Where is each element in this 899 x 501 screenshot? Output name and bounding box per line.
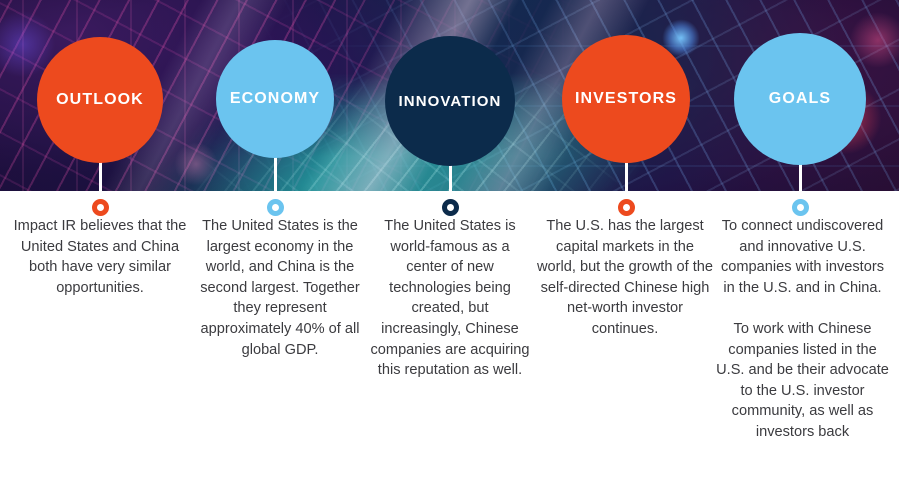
pin-dot-goals[interactable]	[792, 199, 809, 216]
caption-economy: The United States is the largest economy…	[190, 216, 370, 360]
pin-dot-innovation[interactable]	[442, 199, 459, 216]
node-label-investors: INVESTORS	[575, 91, 677, 107]
caption-columns: Impact IR believes that the United State…	[0, 216, 899, 501]
caption-outlook: Impact IR believes that the United State…	[10, 216, 190, 298]
node-circle-outlook[interactable]: OUTLOOK	[37, 37, 163, 163]
pin-dot-investors[interactable]	[618, 199, 635, 216]
caption-paragraph: The United States is the largest economy…	[190, 216, 370, 360]
node-circle-investors[interactable]: INVESTORS	[562, 35, 690, 163]
caption-paragraph: To connect undiscovered and innovative U…	[715, 216, 890, 298]
pin-dot-economy[interactable]	[267, 199, 284, 216]
node-circle-goals[interactable]: GOALS	[734, 33, 866, 165]
caption-investors: The U.S. has the largest capital markets…	[535, 216, 715, 340]
pin-dot-outlook[interactable]	[92, 199, 109, 216]
caption-paragraph: The U.S. has the largest capital markets…	[535, 216, 715, 340]
caption-innovation: The United States is world-famous as a c…	[370, 216, 530, 381]
node-circle-innovation[interactable]: INNOVATION	[385, 36, 515, 166]
caption-paragraph: To work with Chinese companies listed in…	[715, 319, 890, 443]
node-label-innovation: INNOVATION	[399, 94, 502, 109]
caption-paragraph: The United States is world-famous as a c…	[370, 216, 530, 381]
node-circle-economy[interactable]: ECONOMY	[216, 40, 334, 158]
caption-paragraph: Impact IR believes that the United State…	[10, 216, 190, 298]
caption-goals: To connect undiscovered and innovative U…	[715, 216, 890, 443]
infographic-canvas: OUTLOOKECONOMYINNOVATIONINVESTORSGOALS I…	[0, 0, 899, 501]
node-label-goals: GOALS	[769, 91, 831, 107]
node-label-economy: ECONOMY	[230, 91, 320, 107]
node-label-outlook: OUTLOOK	[56, 92, 144, 108]
